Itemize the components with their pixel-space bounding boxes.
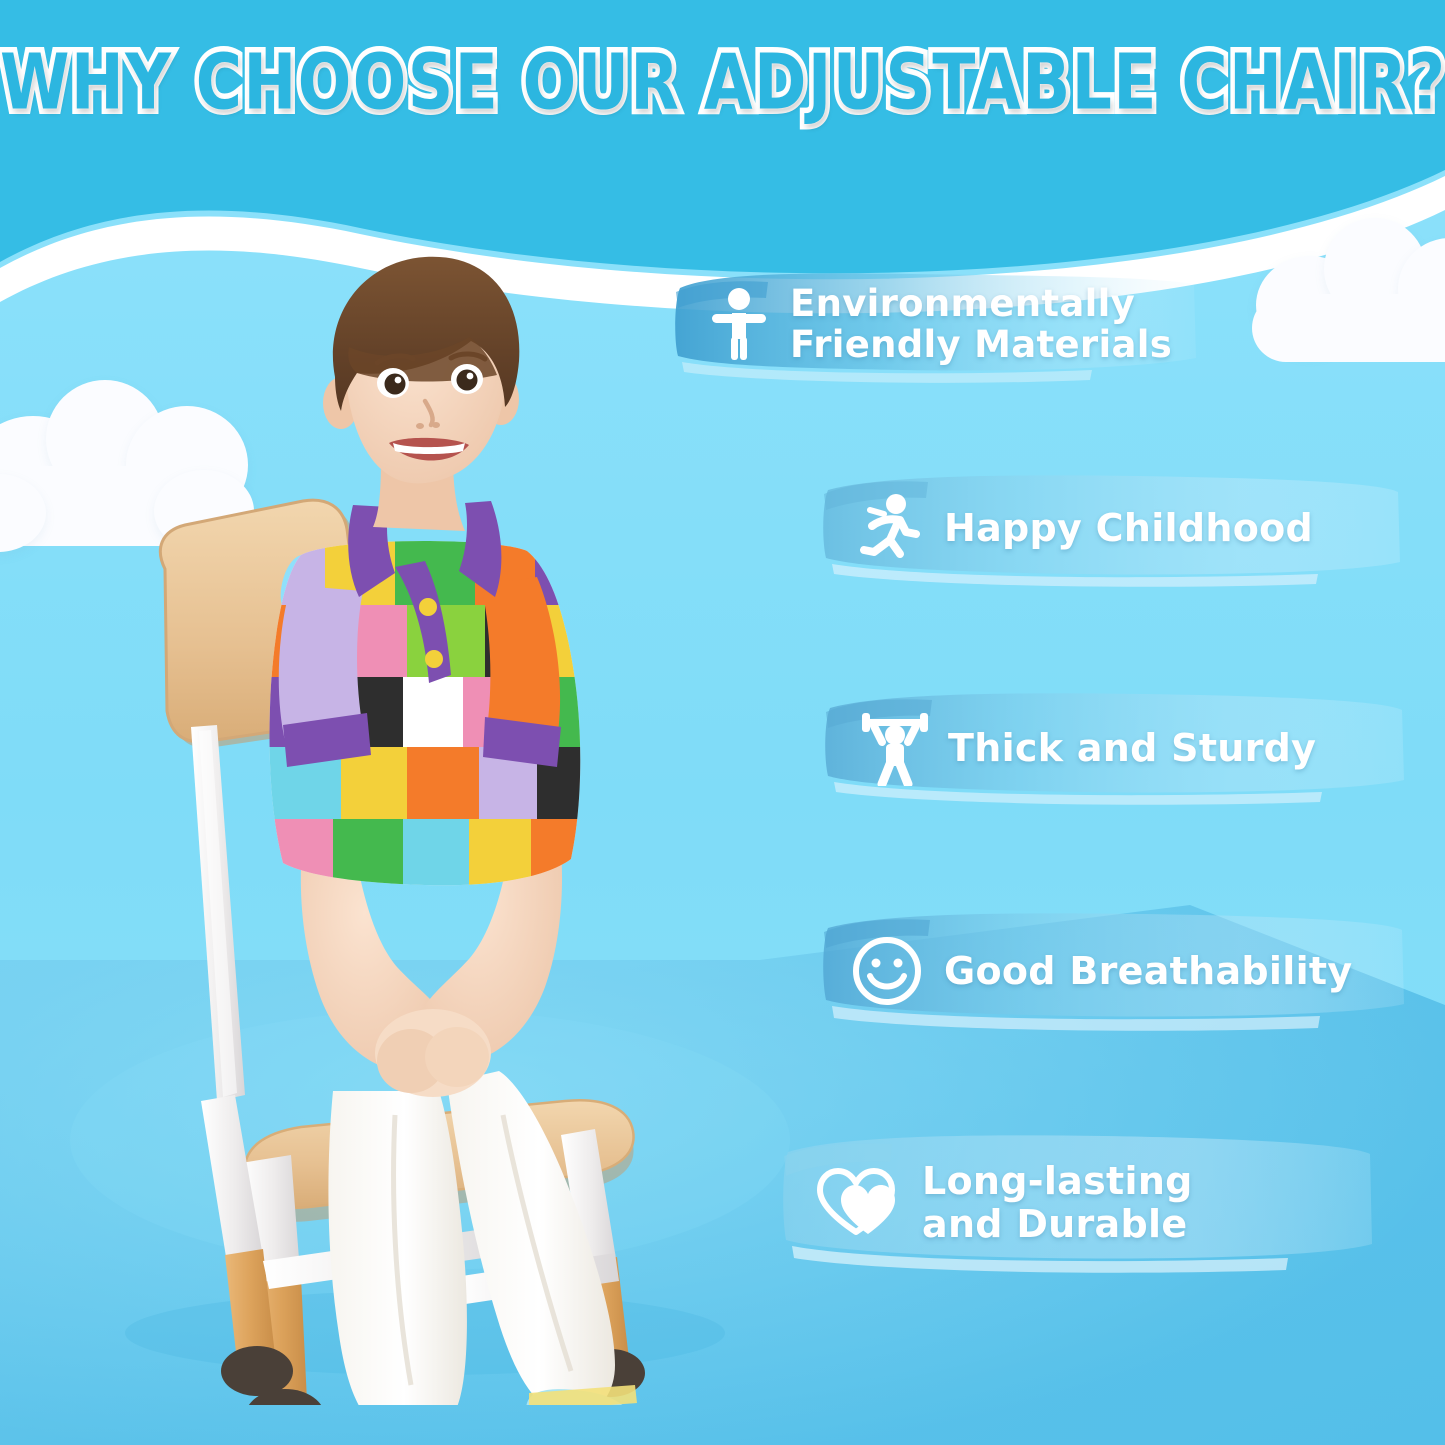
infographic-canvas: WHY CHOOSE OUR ADJUSTABLE CHAIR? xyxy=(0,0,1445,1445)
running-person-icon xyxy=(858,492,924,564)
feature-label: Happy Childhood xyxy=(944,507,1313,550)
cloud-right-icon xyxy=(1252,216,1445,364)
feature-item-long-lasting-durable: Long-lasting and Durable xyxy=(778,1128,1378,1278)
feature-label: Thick and Sturdy xyxy=(948,727,1316,770)
feature-item-thick-and-sturdy: Thick and Sturdy xyxy=(820,688,1410,808)
smiley-face-icon xyxy=(850,934,924,1008)
product-photo-child-on-chair xyxy=(95,255,795,1405)
feature-label: Long-lasting and Durable xyxy=(922,1160,1193,1245)
feature-item-environmentally-friendly: Environmentally Friendly Materials xyxy=(672,262,1202,386)
feature-label: Environmentally Friendly Materials xyxy=(790,283,1172,366)
person-standing-icon xyxy=(710,287,768,361)
feature-item-happy-childhood: Happy Childhood xyxy=(818,468,1406,588)
feature-label: Good Breathability xyxy=(944,950,1352,993)
feature-item-good-breathability: Good Breathability xyxy=(818,908,1410,1034)
page-title: WHY CHOOSE OUR ADJUSTABLE CHAIR? xyxy=(0,44,1445,121)
page-title-wrapper: WHY CHOOSE OUR ADJUSTABLE CHAIR? xyxy=(0,44,1445,107)
weightlifter-icon xyxy=(858,710,932,786)
chair-back-posts xyxy=(191,725,245,1101)
double-heart-icon xyxy=(816,1166,902,1240)
child-head xyxy=(323,257,519,531)
